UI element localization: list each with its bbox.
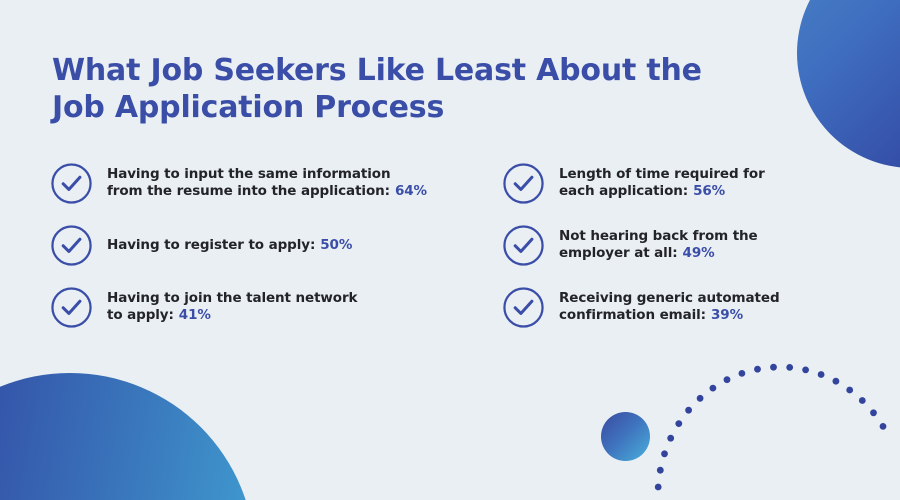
stat-text: Not hearing back from the employer at al… (559, 228, 758, 262)
stat-item-length-of-time: Length of time required for each applica… (502, 152, 870, 214)
stat-value: 56% (693, 183, 725, 199)
infographic-canvas: What Job Seekers Like Least About theJob… (0, 0, 900, 500)
stat-item-duplicate-resume-input: Having to input the same information fro… (50, 152, 502, 214)
stats-list: Having to input the same information fro… (50, 152, 870, 338)
arc-dot (786, 364, 793, 371)
check-circle-icon (50, 286, 93, 329)
check-circle-icon (502, 224, 545, 267)
arc-dot (710, 385, 717, 392)
arc-dot (770, 364, 777, 371)
page-title-line-1: What Job Seekers Like Least About the (52, 53, 702, 88)
stat-value: 41% (179, 307, 211, 323)
decorative-circle-bottom-left (0, 373, 255, 500)
stat-text: Having to register to apply:50% (107, 237, 352, 254)
stat-label: Not hearing back from the employer at al… (559, 228, 758, 261)
page-title-line-2: Job Application Process (52, 90, 444, 125)
stat-label: Receiving generic automated confirmation… (559, 290, 780, 323)
arc-dot (675, 420, 682, 427)
stat-text: Receiving generic automated confirmation… (559, 290, 780, 324)
arc-dot (739, 370, 746, 377)
stat-label: Having to input the same information fro… (107, 166, 390, 199)
stat-item-generic-automated-email: Receiving generic automated confirmation… (502, 276, 870, 338)
check-circle-icon (502, 286, 545, 329)
stat-value: 39% (711, 307, 743, 323)
arc-dot (818, 371, 825, 378)
stat-item-no-response-from-employer: Not hearing back from the employer at al… (502, 214, 870, 276)
stat-label: Having to register to apply: (107, 237, 315, 253)
arc-dot (724, 376, 731, 383)
arc-dot (870, 409, 877, 416)
arc-dot (859, 397, 866, 404)
stat-text: Having to join the talent network to app… (107, 290, 357, 324)
arc-dot (697, 395, 704, 402)
check-circle-icon (502, 162, 545, 205)
header: What Job Seekers Like Least About theJob… (52, 52, 752, 126)
arc-dot (880, 423, 887, 430)
arc-dot (802, 367, 809, 374)
arc-dot (655, 484, 662, 491)
check-circle-icon (50, 224, 93, 267)
stat-item-join-talent-network: Having to join the talent network to app… (50, 276, 502, 338)
arc-dot (657, 467, 664, 474)
arc-dot (661, 450, 668, 457)
arc-dot (667, 435, 674, 442)
stat-item-register-to-apply: Having to register to apply:50% (50, 214, 502, 276)
stat-label: Length of time required for each applica… (559, 166, 765, 199)
stat-label: Having to join the talent network to app… (107, 290, 357, 323)
arc-dot (685, 407, 692, 414)
page-title: What Job Seekers Like Least About theJob… (52, 52, 752, 126)
stat-text: Length of time required for each applica… (559, 166, 765, 200)
check-circle-icon (50, 162, 93, 205)
stat-value: 64% (395, 183, 427, 199)
stat-text: Having to input the same information fro… (107, 166, 427, 200)
stat-value: 50% (320, 237, 352, 253)
decorative-circle-small (601, 412, 650, 461)
arc-dot (754, 366, 761, 373)
stat-value: 49% (683, 245, 715, 261)
decorative-dotted-arc-icon (650, 345, 900, 500)
arc-dot (846, 387, 853, 394)
arc-dot (833, 378, 840, 385)
decorative-circle-top-right (797, 0, 900, 168)
